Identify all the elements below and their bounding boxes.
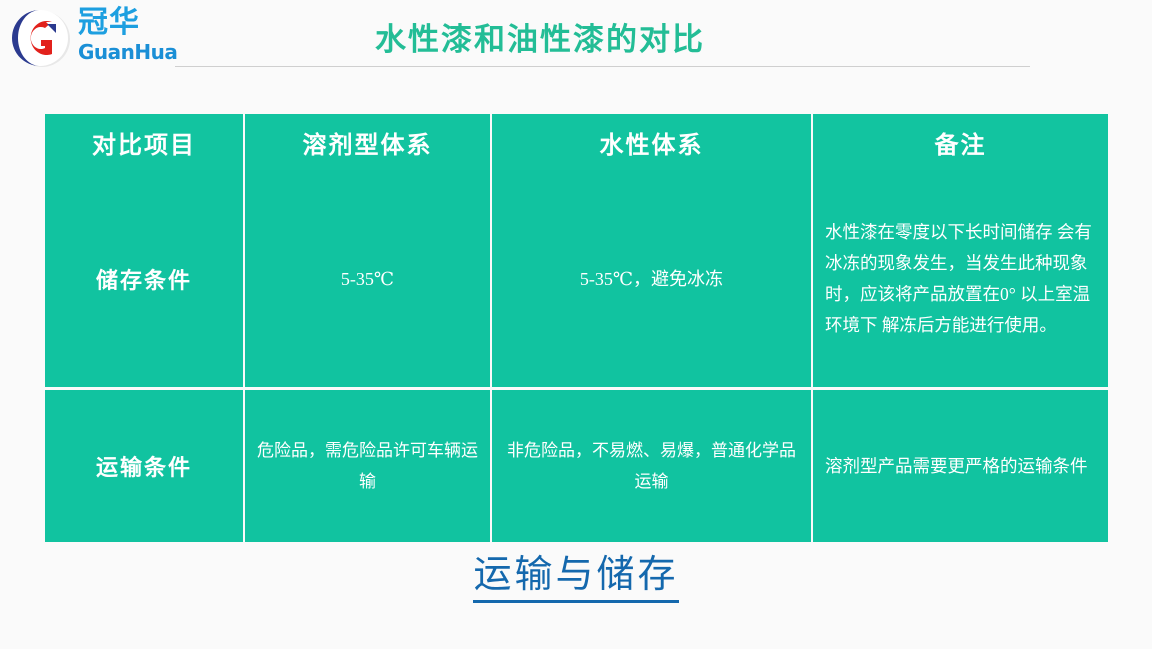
column-header-solvent: 溶剂型体系 — [245, 114, 492, 170]
table-header-row: 对比项目 溶剂型体系 水性体系 备注 — [45, 114, 1108, 170]
table-row: 运输条件 危险品，需危险品许可车辆运输 非危险品，不易燃、易爆，普通化学品运输 … — [45, 390, 1108, 542]
row-label-storage: 储存条件 — [45, 170, 245, 390]
title-divider — [175, 66, 1030, 67]
cell-storage-note: 水性漆在零度以下长时间储存 会有冰冻的现象发生，当发生此种现象时，应该将产品放置… — [813, 170, 1108, 390]
cell-transport-note: 溶剂型产品需要更严格的运输条件 — [813, 390, 1108, 542]
cell-transport-solvent: 危险品，需危险品许可车辆运输 — [245, 390, 492, 542]
footer-caption-text: 运输与储存 — [473, 552, 678, 603]
brand-name-cn: 冠华 — [78, 6, 184, 40]
row-label-transport: 运输条件 — [45, 390, 245, 542]
cell-transport-water: 非危险品，不易燃、易爆，普通化学品运输 — [492, 390, 813, 542]
guanhua-circle-g-logo-icon — [10, 8, 72, 68]
cell-storage-water: 5-35℃，避免冰冻 — [492, 170, 813, 390]
brand-logo: 冠华 GuanHua — [8, 4, 184, 70]
brand-wordmark: 冠华 GuanHua — [78, 6, 184, 70]
cell-storage-solvent: 5-35℃ — [245, 170, 492, 390]
slide-header: 冠华 GuanHua 水性漆和油性漆的对比 — [0, 0, 1152, 80]
comparison-table: 对比项目 溶剂型体系 水性体系 备注 储存条件 5-35℃ 5-35℃，避免冰冻… — [45, 114, 1108, 542]
brand-name-en: GuanHua — [78, 40, 184, 64]
table-row: 储存条件 5-35℃ 5-35℃，避免冰冻 水性漆在零度以下长时间储存 会有冰冻… — [45, 170, 1108, 390]
column-header-item: 对比项目 — [45, 114, 245, 170]
column-header-note: 备注 — [813, 114, 1108, 170]
footer-caption: 运输与储存 — [0, 552, 1152, 603]
page-title: 水性漆和油性漆的对比 — [230, 14, 850, 59]
column-header-water: 水性体系 — [492, 114, 813, 170]
